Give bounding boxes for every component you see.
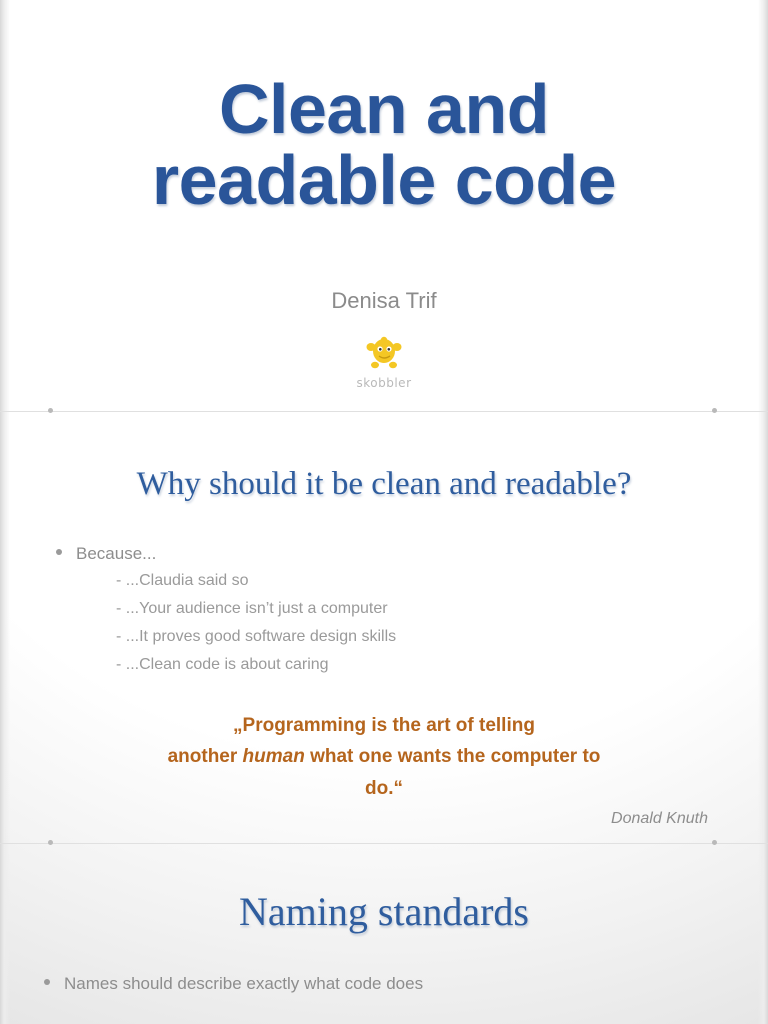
list-item: Because... <box>56 544 156 564</box>
quote-emphasis: human <box>243 746 305 767</box>
quote-line-2-pre: another <box>168 746 243 767</box>
logo-block: skobbler <box>0 334 768 390</box>
page-title: Clean and readable code <box>0 74 768 217</box>
document-page: Clean and readable code Denisa Trif <box>0 0 768 1024</box>
slide-why-clean-readable: Why should it be clean and readable? Bec… <box>0 420 768 844</box>
logo-caption: skobbler <box>0 376 768 390</box>
page-title-line-1: Clean and <box>0 74 768 145</box>
quote-line-1: „Programming is the art of telling <box>233 715 535 736</box>
section-heading-naming: Naming standards <box>0 888 768 935</box>
sub-list-item: - ...Clean code is about caring <box>116 656 329 674</box>
separator-dot-right-1 <box>712 408 717 413</box>
slide-title: Clean and readable code Denisa Trif <box>0 0 768 420</box>
quote-line-2-post: what one wants the computer to <box>305 746 601 767</box>
slide-separator-1 <box>0 411 768 412</box>
sub-list-item: - ...Claudia said so <box>116 572 249 590</box>
sub-list-item: - ...It proves good software design skil… <box>116 628 396 646</box>
quote-line-3: do.“ <box>365 778 403 799</box>
list-item: Names should describe exactly what code … <box>44 974 423 994</box>
pull-quote: „Programming is the art of telling anoth… <box>60 710 708 804</box>
bullet-dot-icon <box>56 549 62 555</box>
page-title-line-2: readable code <box>0 145 768 216</box>
sub-list-item: - ...Your audience isn’t just a computer <box>116 600 388 618</box>
author-name: Denisa Trif <box>0 288 768 314</box>
skobbler-logo-icon <box>361 334 407 370</box>
slide-naming-standards: Naming standards Names should describe e… <box>0 844 768 1024</box>
separator-dot-left-1 <box>48 408 53 413</box>
list-item-label: Because... <box>76 544 156 564</box>
bullet-dot-icon <box>44 979 50 985</box>
section-heading-why: Why should it be clean and readable? <box>0 466 768 503</box>
list-item-label: Names should describe exactly what code … <box>64 974 423 994</box>
quote-author: Donald Knuth <box>0 810 708 828</box>
